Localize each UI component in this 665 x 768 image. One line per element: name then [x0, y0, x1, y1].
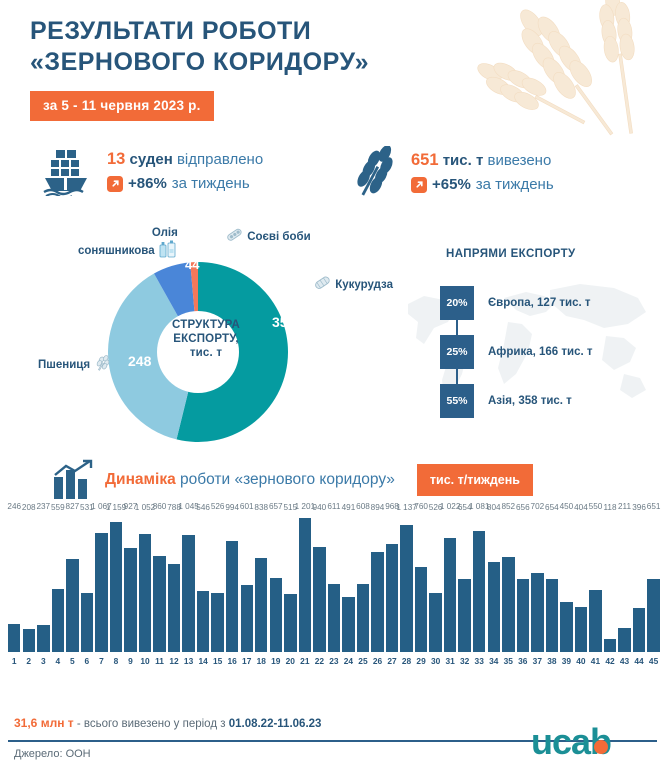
bar-column: 118: [604, 512, 616, 652]
bar: [328, 584, 340, 652]
ship-icon: [42, 146, 96, 196]
bar-value-label: 860: [153, 502, 167, 511]
bar-column: 994: [226, 512, 238, 652]
bar-value-label: 608: [356, 502, 370, 511]
bar-chart-growth-icon: [52, 459, 94, 501]
bar: [81, 593, 93, 652]
bar: [211, 593, 223, 652]
bar-value-label: 237: [36, 502, 50, 511]
bar-column: 1 201: [299, 512, 311, 652]
bar: [575, 607, 587, 652]
bar-column: 515: [284, 512, 296, 652]
x-axis-label: 18: [255, 656, 267, 670]
bar: [8, 624, 20, 652]
bar-value-label: 546: [196, 503, 210, 512]
dynamics-unit-badge: тис. т/тиждень: [417, 464, 533, 496]
x-axis-label: 40: [575, 656, 587, 670]
x-axis-label: 27: [386, 656, 398, 670]
bar: [444, 538, 456, 652]
x-axis-label: 5: [66, 656, 78, 670]
bar-column: 404: [575, 512, 587, 652]
x-axis-label: 31: [444, 656, 456, 670]
donut-label-soybeans: Соєві боби: [224, 228, 311, 243]
stat-tonnage: 651 тис. т вивезено +65% за тиждень: [350, 146, 554, 198]
x-axis-label: 20: [284, 656, 296, 670]
stat-tonnage-change-label: за тиждень: [476, 174, 554, 195]
wheat-ear-icon: [350, 146, 400, 198]
stat-ships-label: відправлено: [177, 151, 263, 168]
export-row-africa: 25% Африка, 166 тис. т: [440, 335, 593, 369]
bar: [633, 608, 645, 652]
x-axis-label: 38: [546, 656, 558, 670]
trend-up-icon: [411, 177, 427, 193]
bar-value-label: 940: [313, 503, 327, 512]
x-axis-label: 39: [560, 656, 572, 670]
x-axis-label: 41: [589, 656, 601, 670]
bar-column: 601: [241, 512, 253, 652]
x-axis-label: 17: [241, 656, 253, 670]
bar-value-label: 559: [51, 503, 65, 512]
oil-label-line-1: Олія: [152, 227, 178, 239]
bar: [386, 544, 398, 652]
x-axis-label: 11: [153, 656, 165, 670]
bar: [560, 602, 572, 652]
title-line-2: «ЗЕРНОВОГО КОРИДОРУ»: [30, 47, 369, 78]
bar-value-label: 396: [632, 503, 646, 512]
bar-column: 702: [531, 512, 543, 652]
bar: [604, 639, 616, 652]
export-label-asia: Азія, 358 тис. т: [488, 395, 572, 407]
x-axis-label: 29: [415, 656, 427, 670]
bar-value-label: 654: [545, 503, 559, 512]
bar-column: 1 045: [182, 512, 194, 652]
bar-value-label: 657: [269, 502, 283, 511]
bar-column: 654: [546, 512, 558, 652]
bar: [488, 562, 500, 652]
bar-value-label: 208: [22, 503, 36, 512]
bar-value-label: 491: [342, 503, 356, 512]
export-directions-panel: НАПРЯМИ ЕКСПОРТУ 20% Європа, 127 тис. т …: [400, 248, 665, 413]
stat-tonnage-text: 651 тис. т вивезено +65% за тиждень: [411, 149, 554, 196]
bar: [66, 559, 78, 652]
x-axis-label: 35: [502, 656, 514, 670]
bar-value-label: 118: [603, 503, 616, 512]
bar: [313, 547, 325, 652]
stat-ships-text: 13 суден відправлено +86% за тиждень: [107, 148, 263, 195]
bar: [182, 535, 194, 652]
bar: [241, 585, 253, 652]
donut-label-corn: Кукурудза: [312, 276, 393, 291]
export-connector-2: [456, 369, 458, 384]
stat-tonnage-change: +65%: [432, 174, 471, 195]
bar-value-label: 550: [589, 502, 603, 511]
bar: [110, 522, 122, 652]
export-row-asia: 55% Азія, 358 тис. т: [440, 384, 572, 418]
export-directions-title: НАПРЯМИ ЕКСПОРТУ: [446, 248, 576, 260]
x-axis-label: 15: [211, 656, 223, 670]
bar-value-label: 526: [211, 502, 225, 511]
x-axis-label: 43: [618, 656, 630, 670]
page-header: РЕЗУЛЬТАТИ РОБОТИ «ЗЕРНОВОГО КОРИДОРУ» з…: [30, 16, 369, 121]
bar-column: 760: [415, 512, 427, 652]
stat-ships: 13 суден відправлено +86% за тиждень: [42, 146, 263, 196]
page-title: РЕЗУЛЬТАТИ РОБОТИ «ЗЕРНОВОГО КОРИДОРУ»: [30, 16, 369, 78]
bar-column: 657: [270, 512, 282, 652]
donut-label-wheat: Пшениця: [38, 355, 113, 371]
bar: [371, 552, 383, 652]
stat-ships-value: 13: [107, 150, 125, 168]
donut-label-sunflower-oil: Олія соняшникова: [78, 226, 178, 259]
bar-column: 968: [386, 512, 398, 652]
stat-ships-headline: 13 суден відправлено: [107, 148, 263, 171]
x-axis-label: 23: [328, 656, 340, 670]
ucab-logo: ucab: [531, 722, 649, 762]
soy-label-text: Соєві боби: [247, 231, 310, 243]
wheat-decoration: [445, 0, 665, 144]
title-line-1: РЕЗУЛЬТАТИ РОБОТИ: [30, 16, 369, 47]
footer-source: Джерело: ООН: [14, 748, 91, 760]
bar-column: 526: [211, 512, 223, 652]
bar: [197, 591, 209, 652]
bar-column: 546: [197, 512, 209, 652]
bar-column: 550: [589, 512, 601, 652]
bar-value-label: 211: [618, 502, 631, 511]
stat-ships-change-label: за тиждень: [172, 173, 250, 194]
corn-icon: [312, 276, 332, 290]
bar: [647, 579, 659, 652]
bar: [458, 579, 470, 652]
donut-value-corn: 351: [272, 314, 295, 330]
x-axis-label: 13: [182, 656, 194, 670]
bar-column: 396: [633, 512, 645, 652]
bar: [400, 525, 412, 652]
wheat-small-icon: [93, 355, 113, 371]
x-axis-label: 8: [110, 656, 122, 670]
x-axis-label: 2: [23, 656, 35, 670]
bar: [270, 578, 282, 652]
export-label-africa: Африка, 166 тис. т: [488, 346, 593, 358]
export-connector-1: [456, 320, 458, 335]
export-row-europe: 20% Європа, 127 тис. т: [440, 286, 591, 320]
bar: [589, 590, 601, 652]
export-percent-africa: 25%: [440, 335, 474, 369]
bar-column: 1 067: [95, 512, 107, 652]
dynamics-title-rest: роботи «зернового коридору»: [176, 471, 395, 488]
bar-value-label: 246: [7, 502, 21, 511]
x-axis-label: 6: [81, 656, 93, 670]
bar: [357, 584, 369, 652]
x-axis-label: 44: [633, 656, 645, 670]
stat-tonnage-unit: тис. т: [443, 152, 484, 169]
bar-column: 1 137: [400, 512, 412, 652]
x-axis-label: 33: [473, 656, 485, 670]
bar-column: 894: [371, 512, 383, 652]
x-axis-label: 42: [604, 656, 616, 670]
x-axis-label: 4: [52, 656, 64, 670]
bar: [618, 628, 630, 652]
bar: [37, 625, 49, 652]
donut-value-soy: 9: [216, 252, 222, 263]
bar-column: 208: [23, 512, 35, 652]
x-axis-label: 45: [647, 656, 659, 670]
bar: [502, 557, 514, 652]
bar: [255, 558, 267, 652]
footer-total-dates: 01.08.22-11.06.23: [229, 718, 322, 730]
bar-value-label: 894: [371, 503, 385, 512]
x-axis-label: 16: [226, 656, 238, 670]
stat-ships-change: +86%: [128, 173, 167, 194]
x-axis-label: 19: [270, 656, 282, 670]
stat-tonnage-value: 651: [411, 151, 439, 169]
bar-value-label: 611: [327, 502, 340, 511]
bar-value-label: 651: [647, 502, 661, 511]
bar-value-label: 404: [574, 503, 588, 512]
donut-center-line-2: ЕКСПОРТУ,: [158, 332, 254, 346]
dynamics-title: Динаміка роботи «зернового коридору»: [105, 471, 395, 489]
export-percent-europe: 20%: [440, 286, 474, 320]
wheat-label-text: Пшениця: [38, 359, 90, 371]
x-axis-label: 14: [197, 656, 209, 670]
weekly-dynamics-chart: 2462082375598275311 0671 1599271 0528607…: [8, 512, 660, 670]
export-label-europe: Європа, 127 тис. т: [488, 297, 591, 309]
bar-value-label: 656: [516, 503, 530, 512]
donut-center-line-3: тис. т: [158, 346, 254, 360]
bar: [342, 597, 354, 652]
bar-column: 927: [124, 512, 136, 652]
donut-value-wheat: 248: [128, 353, 151, 369]
bar: [124, 548, 136, 652]
bar: [168, 564, 180, 652]
bar-value-label: 994: [225, 503, 239, 512]
bar-column: 827: [66, 512, 78, 652]
bar: [139, 534, 151, 652]
bar-column: 651: [647, 512, 659, 652]
bar-column: 531: [81, 512, 93, 652]
bar-column: 611: [328, 512, 340, 652]
bar-column: 211: [618, 512, 630, 652]
x-axis-label: 28: [400, 656, 412, 670]
bar-column: 526: [429, 512, 441, 652]
bar-column: 788: [168, 512, 180, 652]
x-axis-label: 22: [313, 656, 325, 670]
donut-value-oil: 44: [185, 257, 199, 272]
x-axis-label: 34: [488, 656, 500, 670]
x-axis-label: 36: [517, 656, 529, 670]
bar-series: 2462082375598275311 0671 1599271 0528607…: [8, 512, 660, 652]
bar-column: 940: [313, 512, 325, 652]
export-percent-asia: 55%: [440, 384, 474, 418]
bar-column: 804: [488, 512, 500, 652]
dynamics-header: Динаміка роботи «зернового коридору» тис…: [52, 459, 533, 501]
bar: [226, 541, 238, 652]
bar-column: 1 159: [110, 512, 122, 652]
bar: [23, 629, 35, 652]
soybean-icon: [224, 228, 244, 242]
donut-center-line-1: СТРУКТУРА: [158, 318, 254, 332]
bar-column: 1 052: [139, 512, 151, 652]
oil-label-line-2: соняшникова: [78, 245, 155, 257]
bar-column: 608: [357, 512, 369, 652]
bar: [95, 533, 107, 653]
bar: [517, 579, 529, 652]
bar-column: 1 081: [473, 512, 485, 652]
x-axis-label: 24: [342, 656, 354, 670]
bar: [546, 579, 558, 652]
x-axis-label: 30: [429, 656, 441, 670]
bar-column: 559: [52, 512, 64, 652]
bar-column: 237: [37, 512, 49, 652]
stat-tonnage-label: вивезено: [487, 152, 551, 169]
bar-column: 838: [255, 512, 267, 652]
dynamics-title-bold: Динаміка: [105, 471, 176, 488]
footer-total-value: 31,6 млн т: [14, 716, 74, 730]
stat-tonnage-headline: 651 тис. т вивезено: [411, 149, 554, 172]
bar-column: 852: [502, 512, 514, 652]
bar-column: 860: [153, 512, 165, 652]
bar-column: 1 022: [444, 512, 456, 652]
x-axis-label: 32: [458, 656, 470, 670]
x-axis-label: 3: [37, 656, 49, 670]
bar-value-label: 852: [501, 502, 515, 511]
bar-column: 246: [8, 512, 20, 652]
x-axis-labels: 1234567891011121314151617181920212223242…: [8, 656, 660, 670]
donut-center-label: СТРУКТУРА ЕКСПОРТУ, тис. т: [158, 318, 254, 360]
corn-label-text: Кукурудза: [335, 279, 393, 291]
summary-stats: 13 суден відправлено +86% за тиждень: [0, 146, 665, 208]
bar-column: 491: [342, 512, 354, 652]
bar: [415, 567, 427, 652]
bar-value-label: 804: [487, 503, 501, 512]
bar-column: 656: [517, 512, 529, 652]
date-range-badge: за 5 - 11 червня 2023 р.: [30, 91, 214, 121]
oil-bottle-icon: [158, 240, 178, 258]
footer-total: 31,6 млн т - всього вивезено у період з …: [14, 716, 321, 730]
x-axis-label: 10: [139, 656, 151, 670]
x-axis-label: 7: [95, 656, 107, 670]
x-axis-label: 21: [299, 656, 311, 670]
bar-value-label: 601: [240, 502, 254, 511]
x-axis-label: 12: [168, 656, 180, 670]
bar: [284, 594, 296, 652]
x-axis-label: 26: [371, 656, 383, 670]
bar-value-label: 702: [531, 502, 545, 511]
stat-ships-unit: суден: [130, 151, 173, 168]
stat-ships-change-row: +86% за тиждень: [107, 173, 263, 194]
bar: [429, 593, 441, 652]
bar-column: 654: [458, 512, 470, 652]
trend-up-icon: [107, 176, 123, 192]
bar-value-label: 760: [414, 502, 428, 511]
bar: [299, 518, 311, 653]
bar-value-label: 838: [254, 503, 268, 512]
bar: [531, 573, 543, 652]
footer-total-text: - всього вивезено у період з: [74, 718, 229, 730]
x-axis-label: 37: [531, 656, 543, 670]
x-axis-label: 25: [357, 656, 369, 670]
x-axis-label: 9: [124, 656, 136, 670]
bar: [52, 589, 64, 652]
stat-tonnage-change-row: +65% за тиждень: [411, 174, 554, 195]
bar: [153, 556, 165, 652]
x-axis-label: 1: [8, 656, 20, 670]
bar: [473, 531, 485, 652]
bar-value-label: 827: [66, 502, 80, 511]
bar-column: 450: [560, 512, 572, 652]
bar-value-label: 450: [560, 502, 574, 511]
